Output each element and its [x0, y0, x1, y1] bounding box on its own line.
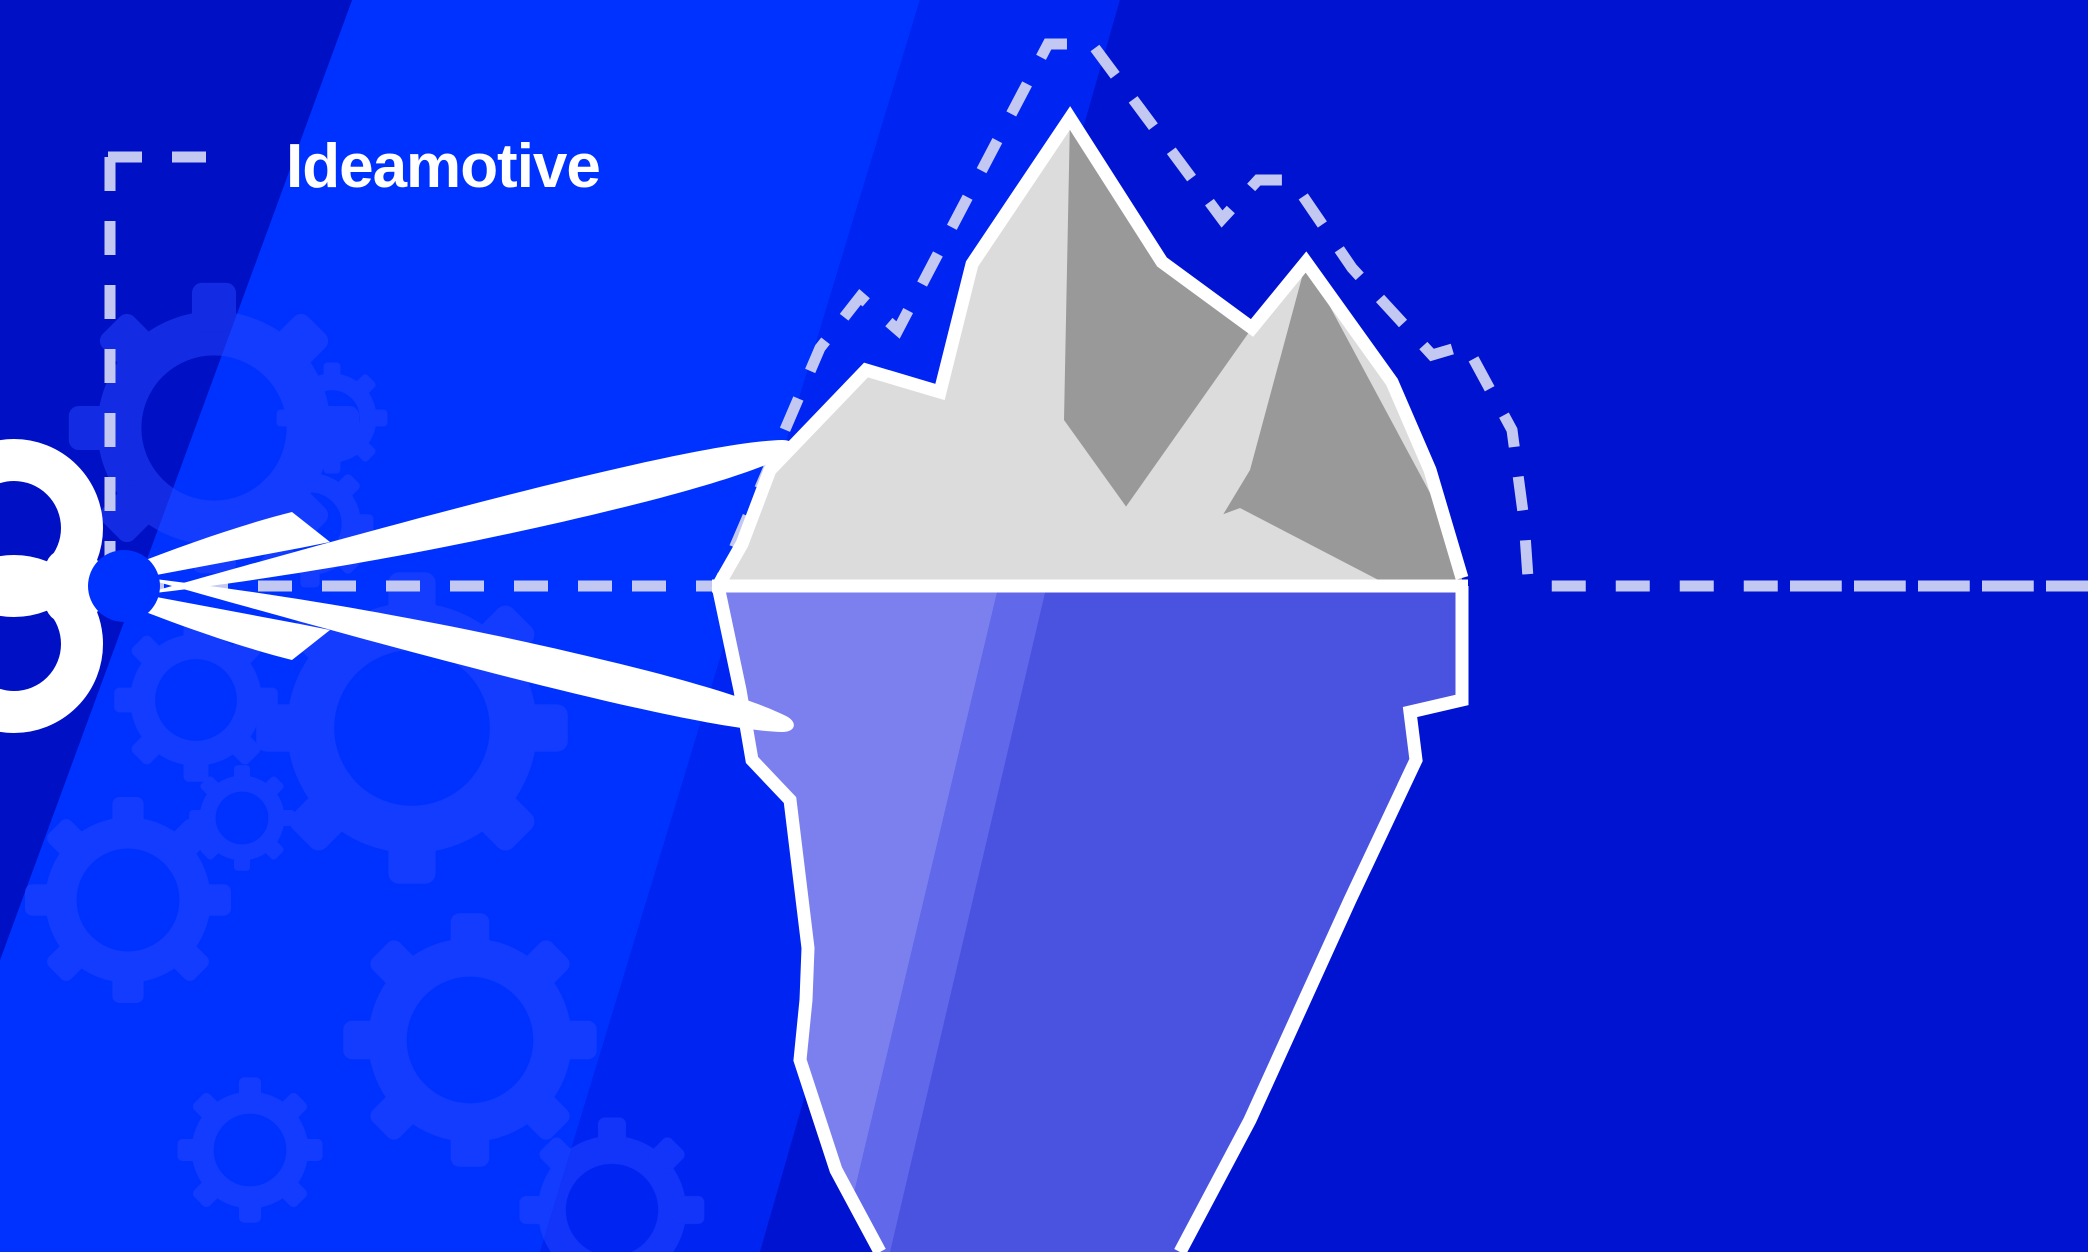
- brand-wordmark: Ideamotive: [286, 136, 600, 198]
- scissors-blade-top: [92, 440, 794, 608]
- hero-banner: Ideamotive: [0, 0, 2088, 1252]
- scissors-blade-bottom: [92, 564, 794, 732]
- scissors-blades: [92, 440, 794, 732]
- scissors-pivot: [88, 550, 160, 622]
